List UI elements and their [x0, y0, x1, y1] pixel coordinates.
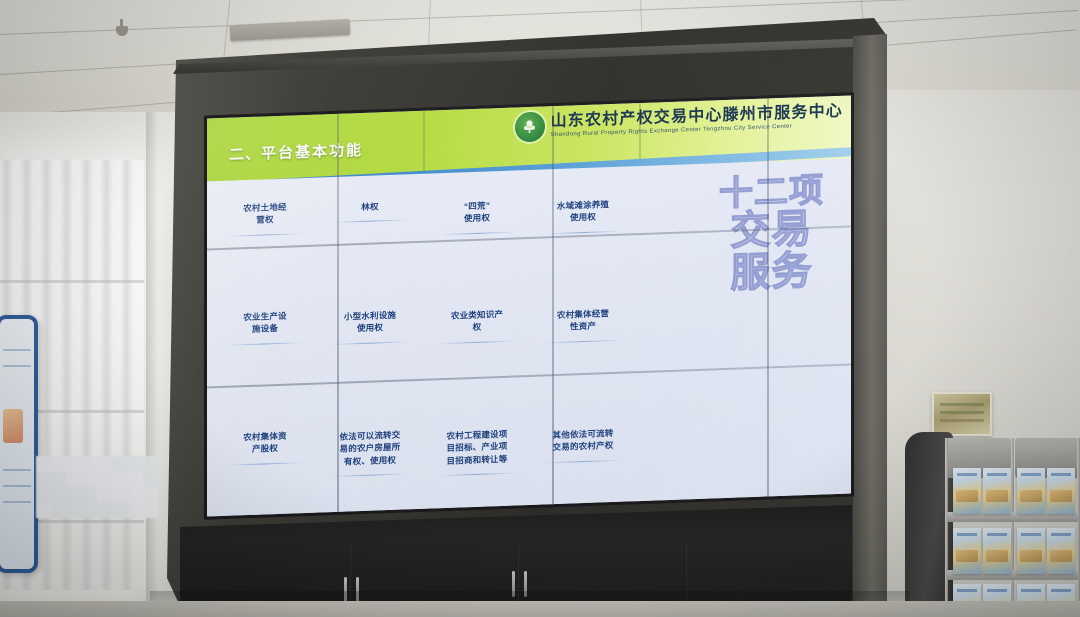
mosaic-block	[128, 456, 143, 472]
service-item-line: 林权	[320, 199, 420, 215]
pixelated-redaction	[36, 456, 158, 518]
mosaic-block	[97, 472, 112, 488]
mosaic-block	[82, 456, 97, 472]
mosaic-block	[36, 487, 51, 503]
mosaic-block	[67, 456, 82, 472]
service-item-7: 农业类知识产权	[427, 307, 527, 335]
mosaic-block	[143, 456, 158, 472]
wall-plaque	[932, 392, 992, 436]
leaflet[interactable]	[1017, 528, 1045, 574]
leaflet[interactable]	[953, 528, 981, 574]
mosaic-block	[82, 472, 97, 488]
panel-seam	[767, 98, 769, 502]
service-item-5: 农业生产设施设备	[215, 309, 315, 337]
mosaic-block	[143, 503, 158, 519]
service-item-2: 林权	[320, 199, 420, 215]
watermark-line-1: 十二项	[704, 173, 839, 213]
mosaic-block	[82, 487, 97, 503]
video-wall-unit: 二、平台基本功能 山东农村产权交易中心滕州市服务中心 Shandong Rura…	[167, 18, 887, 617]
mosaic-block	[51, 487, 66, 503]
mosaic-block	[112, 472, 127, 488]
brochure-rack[interactable]	[945, 438, 1080, 617]
service-item-9: 农村集体资产股权	[215, 429, 315, 457]
service-item-4: 水域滩涂养殖使用权	[533, 197, 633, 225]
leaflet[interactable]	[1047, 468, 1075, 514]
floor-strip	[0, 601, 1080, 617]
mosaic-block	[36, 456, 51, 472]
service-item-line: 使用权	[427, 210, 527, 226]
mosaic-block	[128, 503, 143, 519]
chapter-number: 二、	[229, 146, 261, 164]
service-item-11: 农村工程建设项目招标、产业项目招商和转让等	[427, 427, 527, 468]
leaflet[interactable]	[1017, 468, 1045, 514]
chapter-title: 平台基本功能	[261, 142, 363, 163]
mosaic-block	[67, 472, 82, 488]
service-item-line: 产股权	[215, 441, 315, 457]
service-items-grid: 农村土地经营权林权“四荒”使用权水域滩涂养殖使用权农业生产设施设备小型水利设施使…	[215, 172, 645, 513]
mosaic-block	[128, 472, 143, 488]
mosaic-block	[112, 503, 127, 519]
standing-poster-kiosk[interactable]	[0, 315, 38, 573]
service-item-line: 目招商和转让等	[427, 452, 527, 468]
service-item-6: 小型水利设施使用权	[320, 308, 420, 336]
service-item-10: 依法可以流转交易的农户房屋所有权、使用权	[320, 428, 420, 469]
service-item-8: 农村集体经营性资产	[533, 306, 633, 334]
leaf-emblem-icon	[515, 111, 545, 142]
mosaic-block	[112, 487, 127, 503]
leaflet[interactable]	[983, 468, 1011, 514]
service-item-3: “四荒”使用权	[427, 198, 527, 226]
service-item-line: 使用权	[320, 320, 420, 336]
slide-body: 农村土地经营权林权“四荒”使用权水域滩涂养殖使用权农业生产设施设备小型水利设施使…	[207, 158, 851, 516]
mosaic-block	[82, 503, 97, 519]
leaflet[interactable]	[953, 468, 981, 514]
room-photo-scene: 二、平台基本功能 山东农村产权交易中心滕州市服务中心 Shandong Rura…	[0, 0, 1080, 617]
mosaic-block	[67, 487, 82, 503]
service-item-line: 使用权	[533, 210, 633, 226]
service-item-1: 农村土地经营权	[215, 200, 315, 228]
service-item-line: 营权	[215, 212, 315, 228]
mosaic-block	[97, 456, 112, 472]
mosaic-block	[143, 472, 158, 488]
mosaic-block	[128, 487, 143, 503]
video-wall-screen[interactable]: 二、平台基本功能 山东农村产权交易中心滕州市服务中心 Shandong Rura…	[204, 92, 854, 519]
service-item-line: 交易的农村产权	[533, 439, 633, 455]
service-item-line: 施设备	[215, 321, 315, 337]
service-item-12: 其他依法可流转交易的农村产权	[533, 426, 633, 454]
service-item-line: 性资产	[533, 319, 633, 335]
leaflet[interactable]	[983, 528, 1011, 574]
mosaic-block	[36, 503, 51, 519]
mosaic-block	[112, 456, 127, 472]
service-item-line: 有权、使用权	[320, 453, 420, 469]
leaflet[interactable]	[1047, 528, 1075, 574]
slide-watermark: 十二项 交易 服务	[704, 173, 839, 296]
mosaic-block	[67, 503, 82, 519]
panel-seam	[337, 114, 339, 517]
mosaic-block	[51, 456, 66, 472]
mosaic-block	[97, 487, 112, 503]
mosaic-block	[51, 472, 66, 488]
service-item-line: 权	[427, 319, 527, 335]
organization-brand: 山东农村产权交易中心滕州市服务中心 Shandong Rural Propert…	[515, 101, 843, 143]
mosaic-block	[51, 503, 66, 519]
slide-chapter-heading: 二、平台基本功能	[229, 139, 363, 165]
mosaic-block	[36, 472, 51, 488]
watermark-line-3: 服务	[704, 250, 839, 296]
display-bezel-side	[853, 34, 887, 614]
ceiling-sensor-icon	[116, 26, 128, 36]
mosaic-block	[97, 503, 112, 519]
mosaic-block	[143, 487, 158, 503]
panel-seam	[552, 106, 554, 510]
